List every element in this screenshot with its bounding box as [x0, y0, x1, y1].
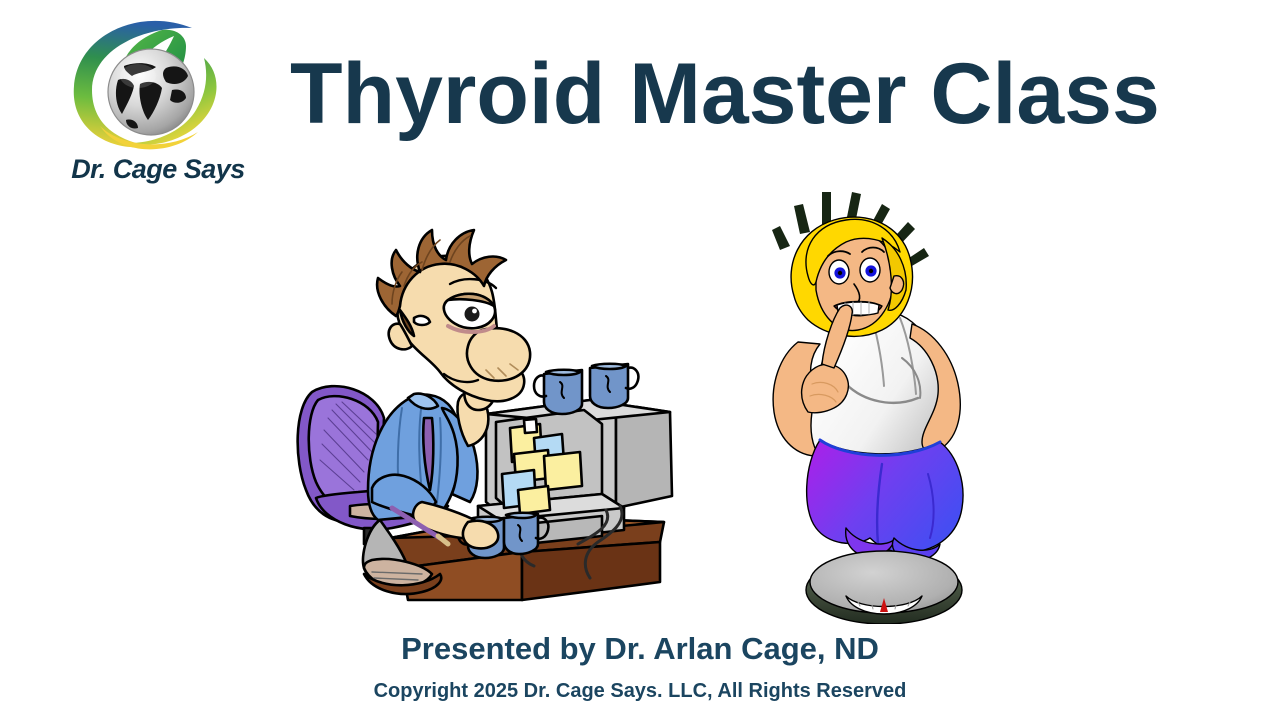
tired-man-at-computer-illustration: [272, 222, 692, 604]
logo-wordmark: Dr. Cage Says: [48, 154, 268, 185]
presentation-slide: Dr. Cage Says Thyroid Master Class: [0, 0, 1280, 720]
page-title: Thyroid Master Class: [290, 46, 1190, 142]
worried-woman-on-scale-illustration: [742, 172, 1024, 624]
copyright-line: Copyright 2025 Dr. Cage Says. LLC, All R…: [0, 680, 1280, 703]
globe-leaf-swoosh-icon: [62, 14, 247, 154]
dr-cage-says-logo: Dr. Cage Says: [48, 14, 268, 189]
presenter-line: Presented by Dr. Arlan Cage, ND: [0, 631, 1280, 667]
